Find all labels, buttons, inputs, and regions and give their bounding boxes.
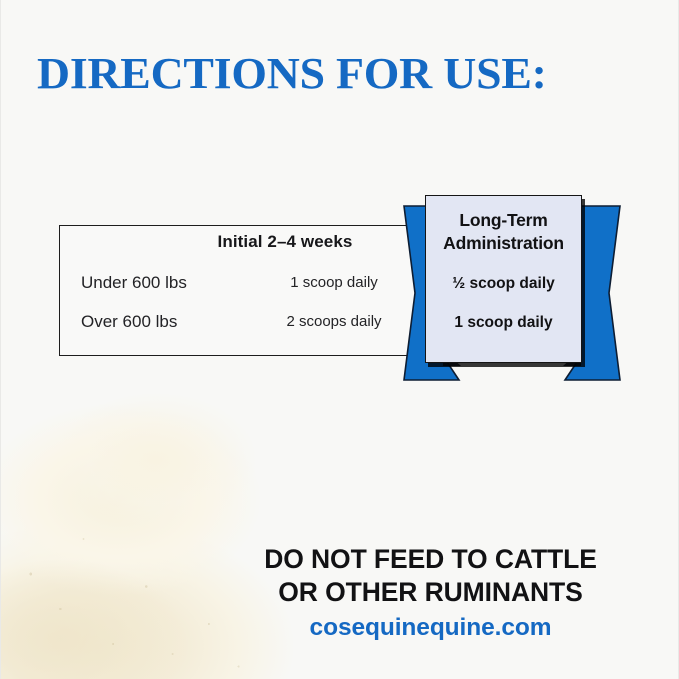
- long-term-title-line1: Long-Term: [459, 210, 547, 230]
- long-term-dose-value: ½ scoop daily: [426, 275, 581, 293]
- long-term-card-title: Long-Term Administration: [426, 209, 581, 255]
- powder-gradient-highlight: [31, 379, 281, 559]
- page-title: DIRECTIONS FOR USE:: [37, 48, 547, 99]
- warning-line-1: DO NOT FEED TO CATTLE: [1, 543, 678, 576]
- directions-for-use-panel: DIRECTIONS FOR USE: Initial 2–4 weeks Un…: [0, 0, 679, 679]
- weight-label: Under 600 lbs: [81, 273, 187, 293]
- long-term-title-line2: Administration: [443, 233, 564, 253]
- long-term-dose-value: 1 scoop daily: [426, 314, 581, 332]
- long-term-administration-card: Long-Term Administration ½ scoop daily 1…: [425, 195, 582, 363]
- website-link[interactable]: cosequinequine.com: [1, 614, 678, 642]
- weight-label: Over 600 lbs: [81, 312, 177, 332]
- footer-block: DO NOT FEED TO CATTLE OR OTHER RUMINANTS…: [1, 543, 678, 642]
- initial-column-header: Initial 2–4 weeks: [169, 232, 401, 252]
- warning-line-2: OR OTHER RUMINANTS: [1, 576, 678, 609]
